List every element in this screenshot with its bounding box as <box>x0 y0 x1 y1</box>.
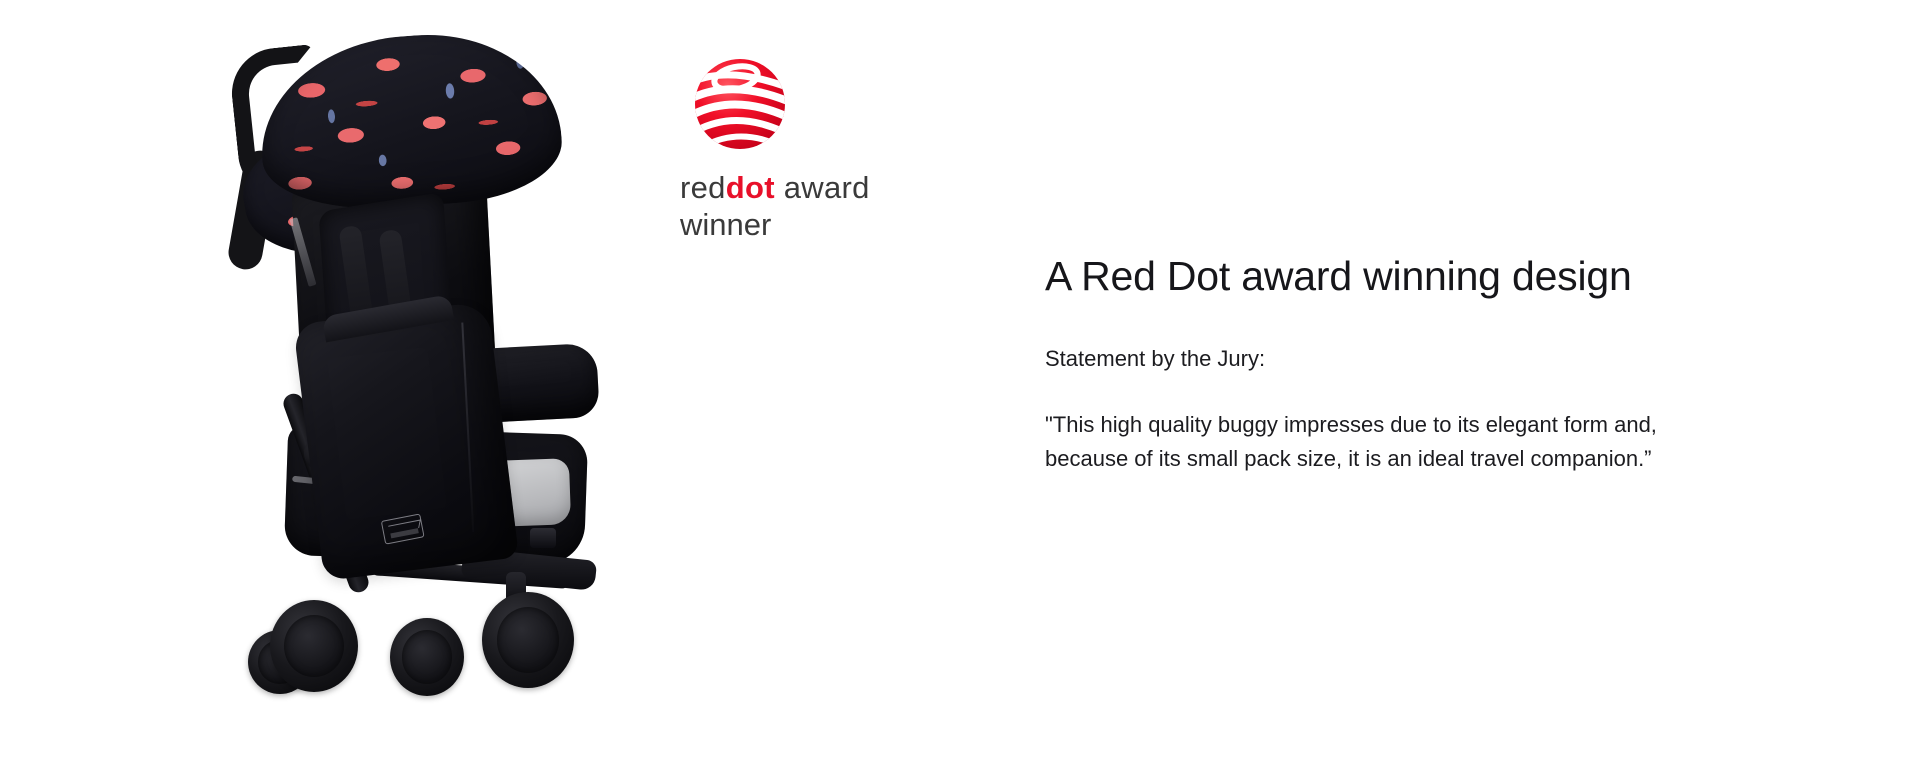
award-copy-block: A Red Dot award winning design Statement… <box>1045 252 1805 476</box>
jury-quote-line-1: "This high quality buggy impresses due t… <box>1045 408 1705 442</box>
jury-statement-label: Statement by the Jury: <box>1045 344 1805 374</box>
jury-quote-line-2: because of its small pack size, it is an… <box>1045 442 1705 476</box>
stroller-product-illustration <box>230 30 680 750</box>
page-title: A Red Dot award winning design <box>1045 252 1805 300</box>
mountain-buggy-logo-icon <box>381 513 425 544</box>
jury-quote: "This high quality buggy impresses due t… <box>1045 408 1705 476</box>
red-dot-logo-line-1: reddot award <box>680 172 920 205</box>
red-dot-logo-red: red <box>680 170 726 205</box>
page-root: reddot award winner A Red Dot award winn… <box>0 0 1920 768</box>
stroller-brake-pedal <box>530 528 556 548</box>
red-dot-logo-award: award <box>775 170 870 205</box>
red-dot-sphere-icon <box>688 52 792 156</box>
stroller-wheel-mid <box>390 618 464 696</box>
red-dot-logo-dot: dot <box>726 170 775 205</box>
red-dot-logo-caption: reddot award winner <box>680 172 920 243</box>
travel-bag-seam <box>461 322 474 532</box>
travel-bag <box>293 301 519 581</box>
red-dot-award-winner-logo: reddot award winner <box>680 52 920 272</box>
stroller-wheel-front <box>482 592 574 688</box>
product-photo: reddot award winner <box>0 0 1000 768</box>
red-dot-logo-line-2: winner <box>680 207 920 244</box>
stroller-wheel-rear <box>270 600 358 692</box>
